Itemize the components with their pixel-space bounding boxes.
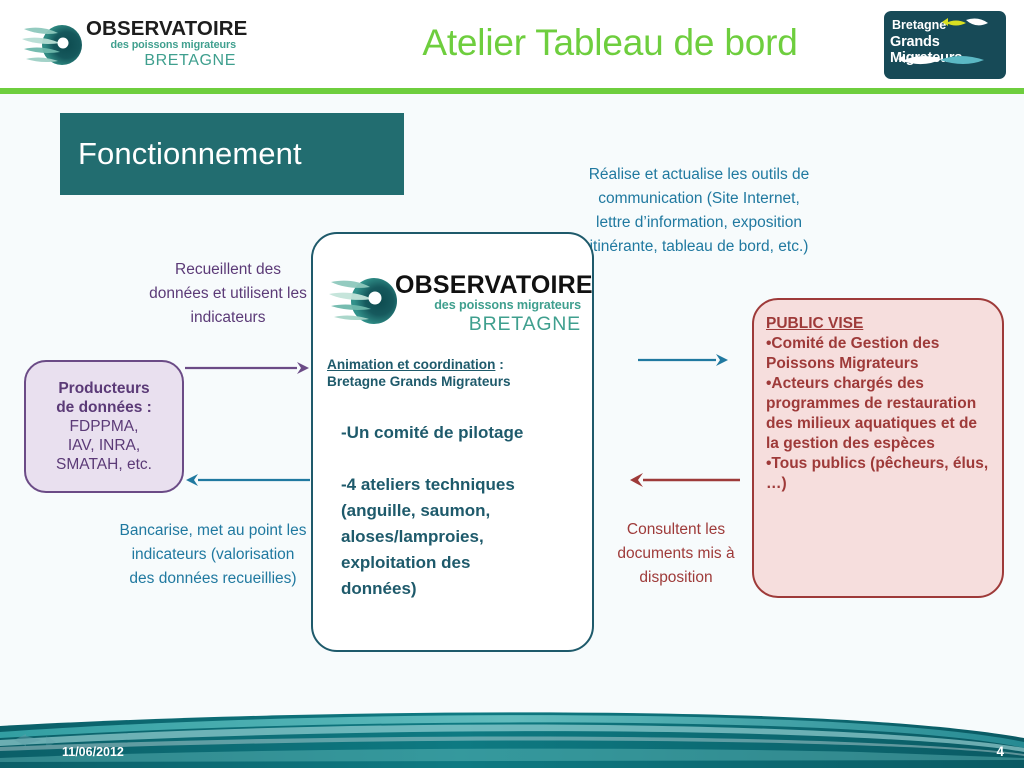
center-animation-value: Bretagne Grands Migrateurs (327, 374, 511, 389)
section-header-fonctionnement: Fonctionnement (60, 113, 404, 195)
note-consultent: Consultent les documents mis à dispositi… (600, 518, 752, 590)
bretagne-grands-migrateurs-logo: Bretagne Grands Migrateurs (884, 11, 1006, 79)
footer-date: 11/06/2012 (62, 745, 124, 759)
observatoire-fish-mark-icon-center (329, 268, 399, 334)
observatoire-word-line3: BRETAGNE (86, 52, 236, 70)
slide: OBSERVATOIRE des poissons migrateurs BRE… (0, 0, 1024, 768)
observatoire-logo-center: OBSERVATOIRE des poissons migrateurs BRE… (329, 266, 581, 344)
footer-page-number: 4 (996, 744, 1004, 759)
box-producteurs-de-donnees[interactable]: Producteurs de données : FDPPMA, IAV, IN… (24, 360, 184, 493)
footer-wave-graphic (0, 700, 1024, 768)
producteurs-title-line1: Producteurs (58, 379, 149, 398)
producteurs-body-line1: FDPPMA, (70, 417, 139, 436)
note-bancarise: Bancarise, met au point les indicateurs … (118, 519, 308, 591)
center-animation-label: Animation et coordination (327, 357, 495, 372)
page-title: Atelier Tableau de bord (330, 22, 890, 64)
observatoire-center-line1: OBSERVATOIRE (395, 272, 581, 298)
center-items-list: -Un comité de pilotage -4 ateliers techn… (341, 420, 591, 602)
box-public-vise[interactable]: PUBLIC VISE •Comité de Gestion des Poiss… (752, 298, 1004, 598)
footer: 11/06/2012 4 (0, 700, 1024, 768)
bgm-fish-icon (884, 11, 1006, 79)
center-animation-colon: : (495, 357, 503, 372)
observatoire-wordmark-center: OBSERVATOIRE des poissons migrateurs BRE… (395, 272, 581, 335)
observatoire-center-line2: des poissons migrateurs (395, 298, 581, 313)
center-item-ateliers: -4 ateliers techniques (341, 472, 591, 498)
center-list-gap (341, 446, 591, 472)
observatoire-logo: OBSERVATOIRE des poissons migrateurs BRE… (22, 14, 234, 76)
box-observatoire-central[interactable]: OBSERVATOIRE des poissons migrateurs BRE… (311, 232, 594, 652)
center-item-ateliers-detail-3: exploitation des (341, 550, 591, 576)
center-item-comite-pilotage: -Un comité de pilotage (341, 420, 591, 446)
arrow-producteurs-to-center (185, 358, 310, 378)
section-header-label: Fonctionnement (60, 136, 302, 172)
public-vise-bullet-2: •Acteurs chargés des programmes de resta… (766, 374, 992, 454)
public-vise-bullet-3: •Tous publics (pêcheurs, élus, …) (766, 454, 992, 494)
observatoire-fish-mark-icon (22, 16, 84, 74)
observatoire-wordmark: OBSERVATOIRE des poissons migrateurs BRE… (86, 18, 236, 70)
observatoire-word-line2: des poissons migrateurs (86, 39, 236, 52)
arrow-center-to-producteurs (185, 470, 310, 490)
center-animation-coordination: Animation et coordination : Bretagne Gra… (327, 356, 589, 390)
center-item-ateliers-detail-1: (anguille, saumon, (341, 498, 591, 524)
header-green-rule (0, 88, 1024, 94)
note-recueillent: Recueillent des données et utilisent les… (148, 258, 308, 330)
observatoire-word-line1: OBSERVATOIRE (86, 18, 236, 39)
producteurs-title-line2: de données : (56, 398, 152, 417)
center-item-ateliers-detail-2: aloses/lamproies, (341, 524, 591, 550)
note-realise: Réalise et actualise les outils de commu… (580, 163, 818, 259)
center-item-ateliers-detail-4: données) (341, 576, 591, 602)
observatoire-center-line3: BRETAGNE (395, 313, 581, 335)
arrow-public-to-center (630, 470, 740, 490)
producteurs-body-line2: IAV, INRA, (68, 436, 140, 455)
public-vise-heading: PUBLIC VISE (766, 314, 992, 334)
producteurs-body-line3: SMATAH, etc. (56, 455, 152, 474)
arrow-center-to-public (638, 350, 728, 370)
public-vise-bullet-1: •Comité de Gestion des Poissons Migrateu… (766, 334, 992, 374)
